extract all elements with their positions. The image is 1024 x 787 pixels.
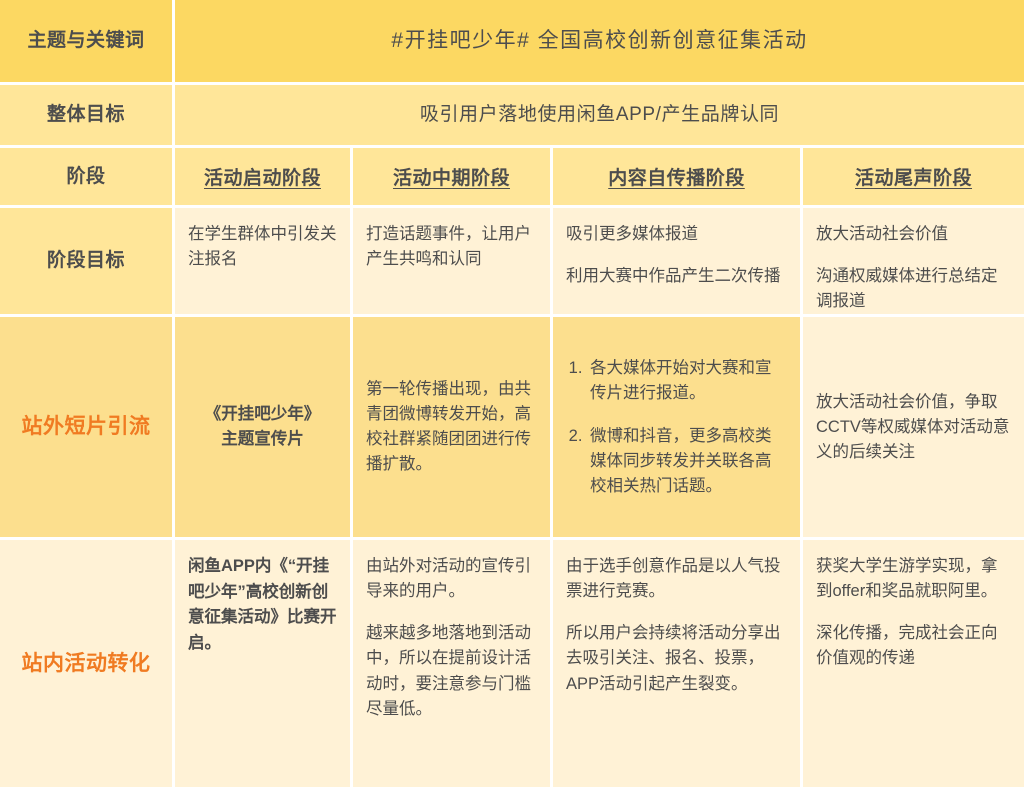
cell-text: 打造话题事件，让用户产生共鸣和认同 bbox=[353, 208, 550, 272]
cell-paragraph: 打造话题事件，让用户产生共鸣和认同 bbox=[366, 222, 537, 272]
column-header-label: 活动启动阶段 bbox=[175, 163, 350, 190]
stage-goals-cell-4: 放大活动社会价值沟通权威媒体进行总结定调报道 bbox=[803, 208, 1024, 317]
row-label-stage-goals: 阶段目标 bbox=[0, 248, 172, 274]
column-header-label: 内容自传播阶段 bbox=[553, 163, 800, 190]
row-label-overall-goal: 整体目标 bbox=[0, 102, 172, 128]
row-label-stage: 阶段 bbox=[0, 164, 172, 190]
cell-paragraph: 主题宣传片 bbox=[188, 427, 337, 453]
cell-paragraph: 所以用户会持续将活动分享出去吸引关注、报名、投票，APP活动引起产生裂变。 bbox=[566, 621, 787, 696]
row-label-theme-cell: 主题与关键词 bbox=[0, 0, 175, 85]
table-row-theme: 主题与关键词 #开挂吧少年# 全国高校创新创意征集活动 bbox=[0, 0, 1024, 85]
cell-paragraph: 放大活动社会价值，争取CCTV等权威媒体对活动意义的后续关注 bbox=[816, 390, 1011, 465]
onsite-conversion-cell-3: 由于选手创意作品是以人气投票进行竞赛。所以用户会持续将活动分享出去吸引关注、报名… bbox=[553, 540, 803, 787]
row-label-onsite-conversion: 站内活动转化 bbox=[0, 650, 172, 678]
cell-paragraph: 沟通权威媒体进行总结定调报道 bbox=[816, 264, 1011, 314]
table-row-offsite-traffic: 站外短片引流 《开挂吧少年》主题宣传片 第一轮传播出现，由共青团微博转发开始，高… bbox=[0, 317, 1024, 540]
offsite-traffic-cell-4: 放大活动社会价值，争取CCTV等权威媒体对活动意义的后续关注 bbox=[803, 317, 1024, 540]
cell-paragraph: 第一轮传播出现，由共青团微博转发开始，高校社群紧随团团进行传播扩散。 bbox=[366, 377, 537, 477]
offsite-traffic-cell-1: 《开挂吧少年》主题宣传片 bbox=[175, 317, 353, 540]
cell-text: 闲鱼APP内《“开挂吧少年”高校创新创意征集活动》比赛开启。 bbox=[175, 540, 350, 656]
column-header-label: 活动尾声阶段 bbox=[803, 163, 1024, 190]
row-label-offsite-traffic: 站外短片引流 bbox=[0, 413, 172, 441]
cell-paragraph: 获奖大学生游学实现，拿到offer和奖品就职阿里。 bbox=[816, 554, 1011, 604]
stage-goals-cell-2: 打造话题事件，让用户产生共鸣和认同 bbox=[353, 208, 553, 317]
cell-text: 放大活动社会价值，争取CCTV等权威媒体对活动意义的后续关注 bbox=[803, 390, 1024, 465]
cell-paragraph: 由于选手创意作品是以人气投票进行竞赛。 bbox=[566, 554, 787, 604]
cell-paragraph: 《开挂吧少年》 bbox=[188, 402, 337, 428]
table-row-onsite-conversion: 站内活动转化 闲鱼APP内《“开挂吧少年”高校创新创意征集活动》比赛开启。 由站… bbox=[0, 540, 1024, 787]
cell-ordered-list: 各大媒体开始对大赛和宣传片进行报道。微博和抖音，更多高校类媒体同步转发并关联各高… bbox=[563, 356, 787, 499]
column-header-label: 活动中期阶段 bbox=[353, 163, 550, 190]
row-label-offsite-traffic-cell: 站外短片引流 bbox=[0, 317, 175, 540]
cell-paragraph: 利用大赛中作品产生二次传播 bbox=[566, 264, 787, 289]
cell-paragraph: 放大活动社会价值 bbox=[816, 222, 1011, 247]
column-header-stage-4: 活动尾声阶段 bbox=[803, 148, 1024, 208]
offsite-traffic-cell-3: 各大媒体开始对大赛和宣传片进行报道。微博和抖音，更多高校类媒体同步转发并关联各高… bbox=[553, 317, 803, 540]
overall-goal-value-cell: 吸引用户落地使用闲鱼APP/产生品牌认同 bbox=[175, 85, 1024, 148]
cell-paragraph: 在学生群体中引发关注报名 bbox=[188, 222, 337, 272]
column-header-stage-1: 活动启动阶段 bbox=[175, 148, 353, 208]
row-label-theme: 主题与关键词 bbox=[0, 28, 172, 54]
onsite-conversion-cell-2: 由站外对活动的宣传引导来的用户。越来越多地落地到活动中，所以在提前设计活动时，要… bbox=[353, 540, 553, 787]
campaign-plan-table: 主题与关键词 #开挂吧少年# 全国高校创新创意征集活动 整体目标 吸引用户落地使… bbox=[0, 0, 1024, 787]
cell-paragraph: 闲鱼APP内《“开挂吧少年”高校创新创意征集活动》比赛开启。 bbox=[188, 554, 337, 656]
onsite-conversion-cell-4: 获奖大学生游学实现，拿到offer和奖品就职阿里。深化传播，完成社会正向价值观的… bbox=[803, 540, 1024, 787]
cell-paragraph: 越来越多地落地到活动中，所以在提前设计活动时，要注意参与门槛尽量低。 bbox=[366, 621, 537, 721]
cell-text: 获奖大学生游学实现，拿到offer和奖品就职阿里。深化传播，完成社会正向价值观的… bbox=[803, 540, 1024, 671]
row-label-stage-cell: 阶段 bbox=[0, 148, 175, 208]
cell-paragraph: 深化传播，完成社会正向价值观的传递 bbox=[816, 621, 1011, 671]
cell-text: 在学生群体中引发关注报名 bbox=[175, 208, 350, 272]
cell-paragraph: 由站外对活动的宣传引导来的用户。 bbox=[366, 554, 537, 604]
cell-text: 各大媒体开始对大赛和宣传片进行报道。微博和抖音，更多高校类媒体同步转发并关联各高… bbox=[553, 356, 800, 499]
cell-text: 《开挂吧少年》主题宣传片 bbox=[175, 402, 350, 453]
list-item: 各大媒体开始对大赛和宣传片进行报道。 bbox=[587, 356, 787, 406]
cell-text: 第一轮传播出现，由共青团微博转发开始，高校社群紧随团团进行传播扩散。 bbox=[353, 377, 550, 477]
offsite-traffic-cell-2: 第一轮传播出现，由共青团微博转发开始，高校社群紧随团团进行传播扩散。 bbox=[353, 317, 553, 540]
table-row-stage-headers: 阶段 活动启动阶段 活动中期阶段 内容自传播阶段 活动尾声阶段 bbox=[0, 148, 1024, 208]
cell-text: 吸引更多媒体报道利用大赛中作品产生二次传播 bbox=[553, 208, 800, 289]
cell-paragraph: 吸引更多媒体报道 bbox=[566, 222, 787, 247]
onsite-conversion-cell-1: 闲鱼APP内《“开挂吧少年”高校创新创意征集活动》比赛开启。 bbox=[175, 540, 353, 787]
table-row-overall-goal: 整体目标 吸引用户落地使用闲鱼APP/产生品牌认同 bbox=[0, 85, 1024, 148]
stage-goals-cell-1: 在学生群体中引发关注报名 bbox=[175, 208, 353, 317]
overall-goal-value: 吸引用户落地使用闲鱼APP/产生品牌认同 bbox=[175, 101, 1024, 130]
row-label-overall-goal-cell: 整体目标 bbox=[0, 85, 175, 148]
row-label-onsite-conversion-cell: 站内活动转化 bbox=[0, 540, 175, 787]
column-header-stage-3: 内容自传播阶段 bbox=[553, 148, 803, 208]
theme-value-cell: #开挂吧少年# 全国高校创新创意征集活动 bbox=[175, 0, 1024, 85]
stage-goals-cell-3: 吸引更多媒体报道利用大赛中作品产生二次传播 bbox=[553, 208, 803, 317]
table-row-stage-goals: 阶段目标 在学生群体中引发关注报名 打造话题事件，让用户产生共鸣和认同 吸引更多… bbox=[0, 208, 1024, 317]
list-item: 微博和抖音，更多高校类媒体同步转发并关联各高校相关热门话题。 bbox=[587, 424, 787, 499]
cell-text: 放大活动社会价值沟通权威媒体进行总结定调报道 bbox=[803, 208, 1024, 314]
cell-text: 由于选手创意作品是以人气投票进行竞赛。所以用户会持续将活动分享出去吸引关注、报名… bbox=[553, 540, 800, 696]
cell-text: 由站外对活动的宣传引导来的用户。越来越多地落地到活动中，所以在提前设计活动时，要… bbox=[353, 540, 550, 721]
column-header-stage-2: 活动中期阶段 bbox=[353, 148, 553, 208]
row-label-stage-goals-cell: 阶段目标 bbox=[0, 208, 175, 317]
theme-value: #开挂吧少年# 全国高校创新创意征集活动 bbox=[175, 25, 1024, 57]
